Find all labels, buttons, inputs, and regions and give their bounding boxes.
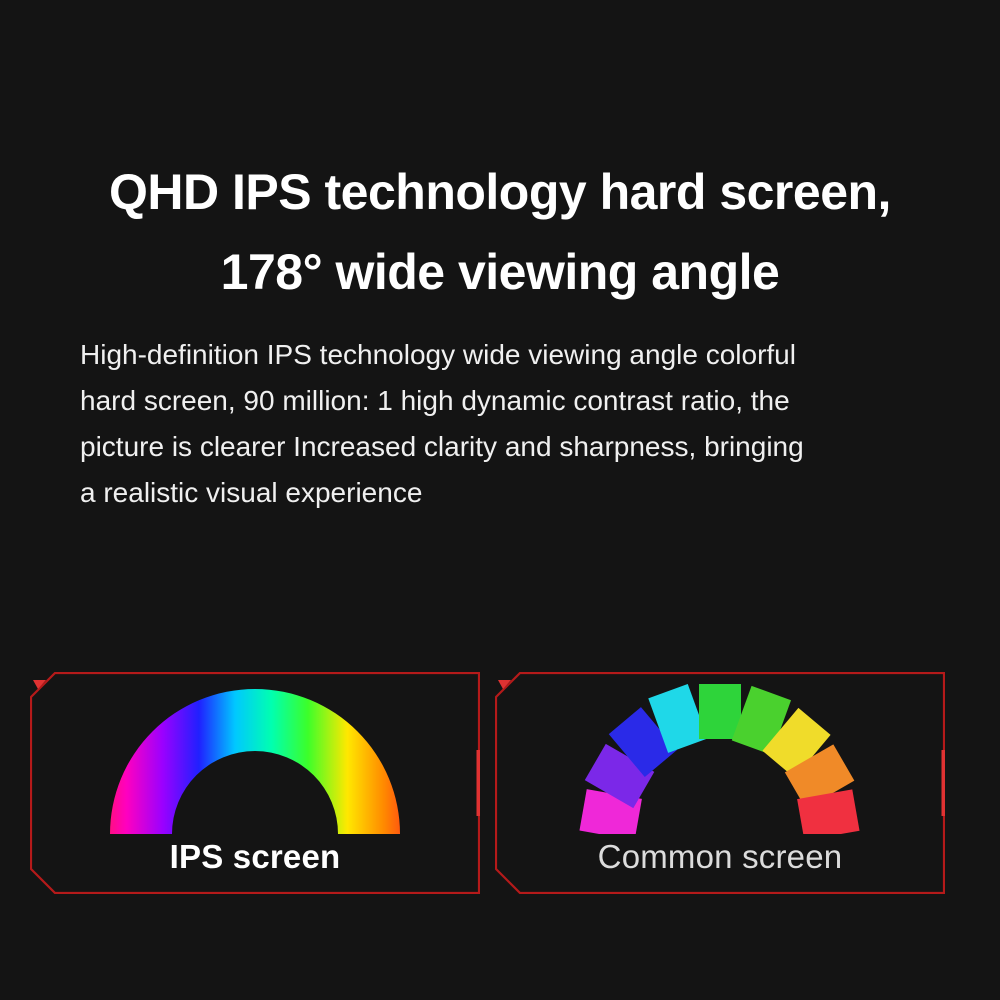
headline-line-2: 178° wide viewing angle [0, 232, 1000, 312]
promo-page: QHD IPS technology hard screen, 178° wid… [0, 0, 1000, 1000]
body-line-1: High-definition IPS technology wide view… [80, 332, 910, 378]
panel-label-common: Common screen [495, 838, 945, 876]
panel-common-content: Common screen [495, 672, 945, 894]
common-arc-illustration [555, 684, 885, 834]
panel-ips-screen: IPS screen [30, 672, 480, 894]
rainbow-arc-icon [90, 684, 420, 834]
panel-common-screen: Common screen [495, 672, 945, 894]
body-line-4: a realistic visual experience [80, 470, 910, 516]
panel-ips-content: IPS screen [30, 672, 480, 894]
comparison-panels: IPS screen [30, 672, 945, 894]
body-line-2: hard screen, 90 million: 1 high dynamic … [80, 378, 910, 424]
panel-label-ips: IPS screen [30, 838, 480, 876]
body-paragraph: High-definition IPS technology wide view… [80, 332, 910, 516]
color-blocks-arc-icon [555, 684, 885, 834]
page-title: QHD IPS technology hard screen, 178° wid… [0, 152, 1000, 312]
ips-arc-illustration [90, 684, 420, 834]
body-line-3: picture is clearer Increased clarity and… [80, 424, 910, 470]
headline-line-1: QHD IPS technology hard screen, [0, 152, 1000, 232]
